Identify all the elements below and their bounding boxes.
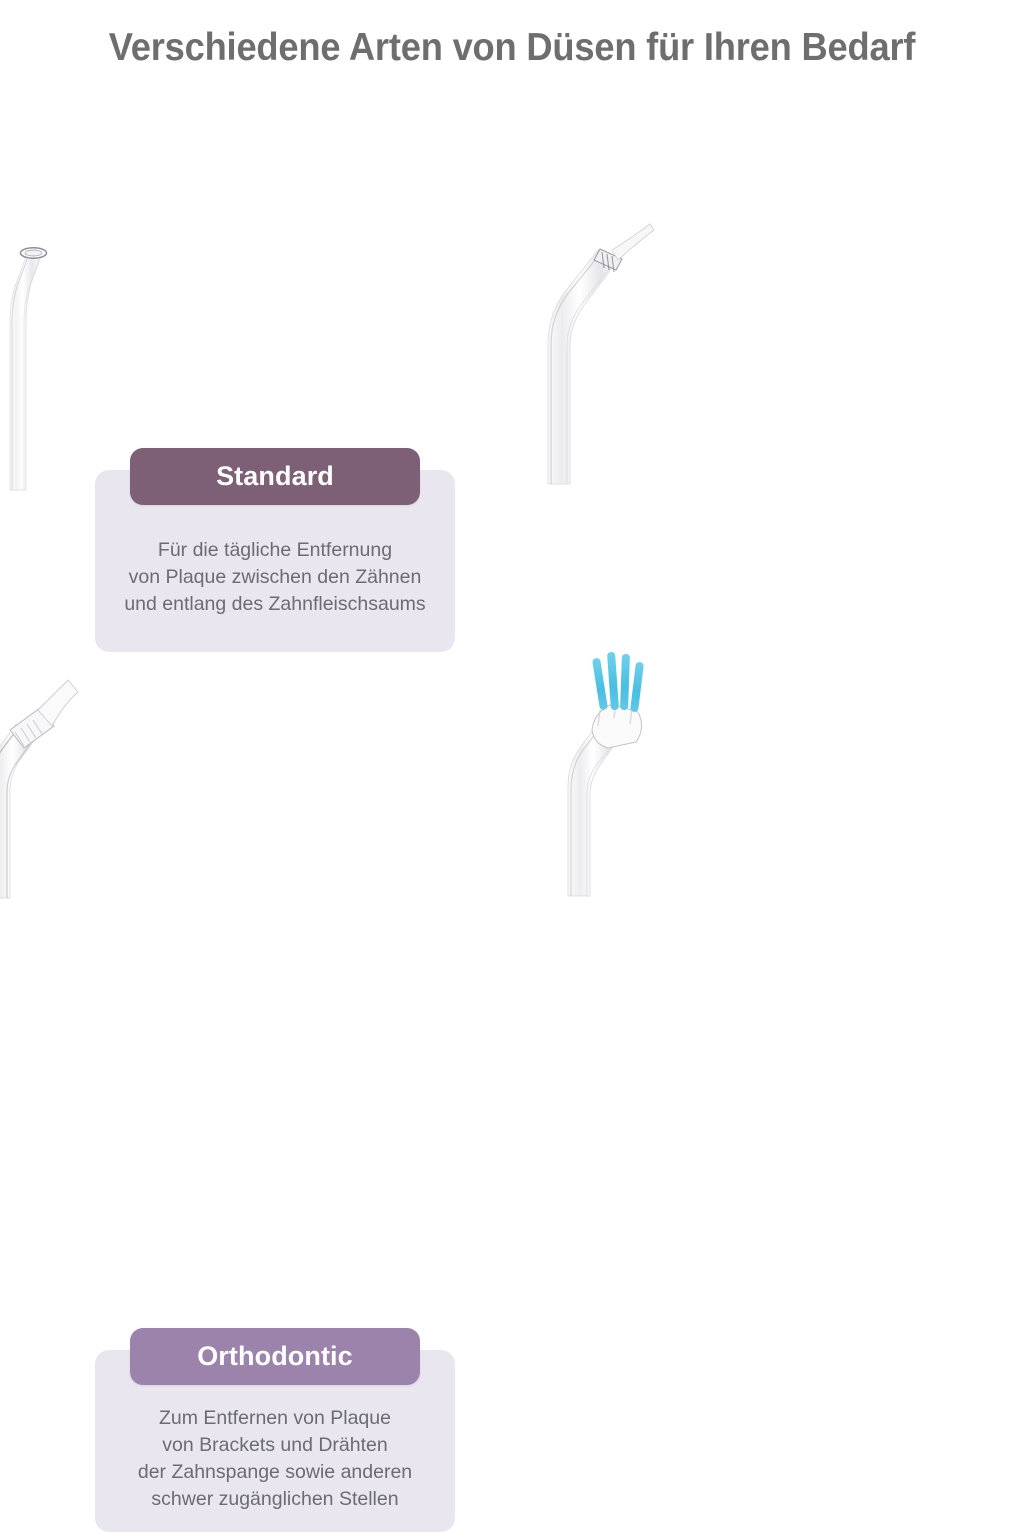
- brush-bristles: [592, 652, 644, 713]
- nozzle-card-standard: Standard Für die tägliche Entfernung von…: [0, 200, 512, 490]
- orthodontic-title-text: Orthodontic: [197, 1341, 353, 1372]
- orthodontic-description: Zum Entfernen von Plaque von Brackets un…: [95, 1405, 455, 1513]
- standard-title-badge: Standard: [130, 448, 420, 505]
- nozzle-card-orthodontic: Orthodontic Zum Entfernen von Plaque von…: [0, 640, 512, 910]
- dental-plaque-nozzle-icon: [564, 648, 694, 898]
- standard-title-text: Standard: [216, 461, 334, 492]
- standard-description: Für die tägliche Entfernung von Plaque z…: [95, 537, 455, 618]
- nozzle-card-periodontal: Periodontal Zur Reinigung von Parodontal…: [512, 200, 1024, 490]
- periodontal-nozzle-icon: [542, 216, 682, 486]
- orthodontic-title-badge: Orthodontic: [130, 1328, 420, 1385]
- standard-nozzle-icon: [0, 212, 102, 492]
- nozzle-type-grid: Standard Für die tägliche Entfernung von…: [0, 0, 1024, 899]
- nozzle-card-dental-plaque: Dental Plaque Für eine effektivere Entfe…: [512, 640, 1024, 910]
- orthodontic-nozzle-icon: [0, 650, 106, 900]
